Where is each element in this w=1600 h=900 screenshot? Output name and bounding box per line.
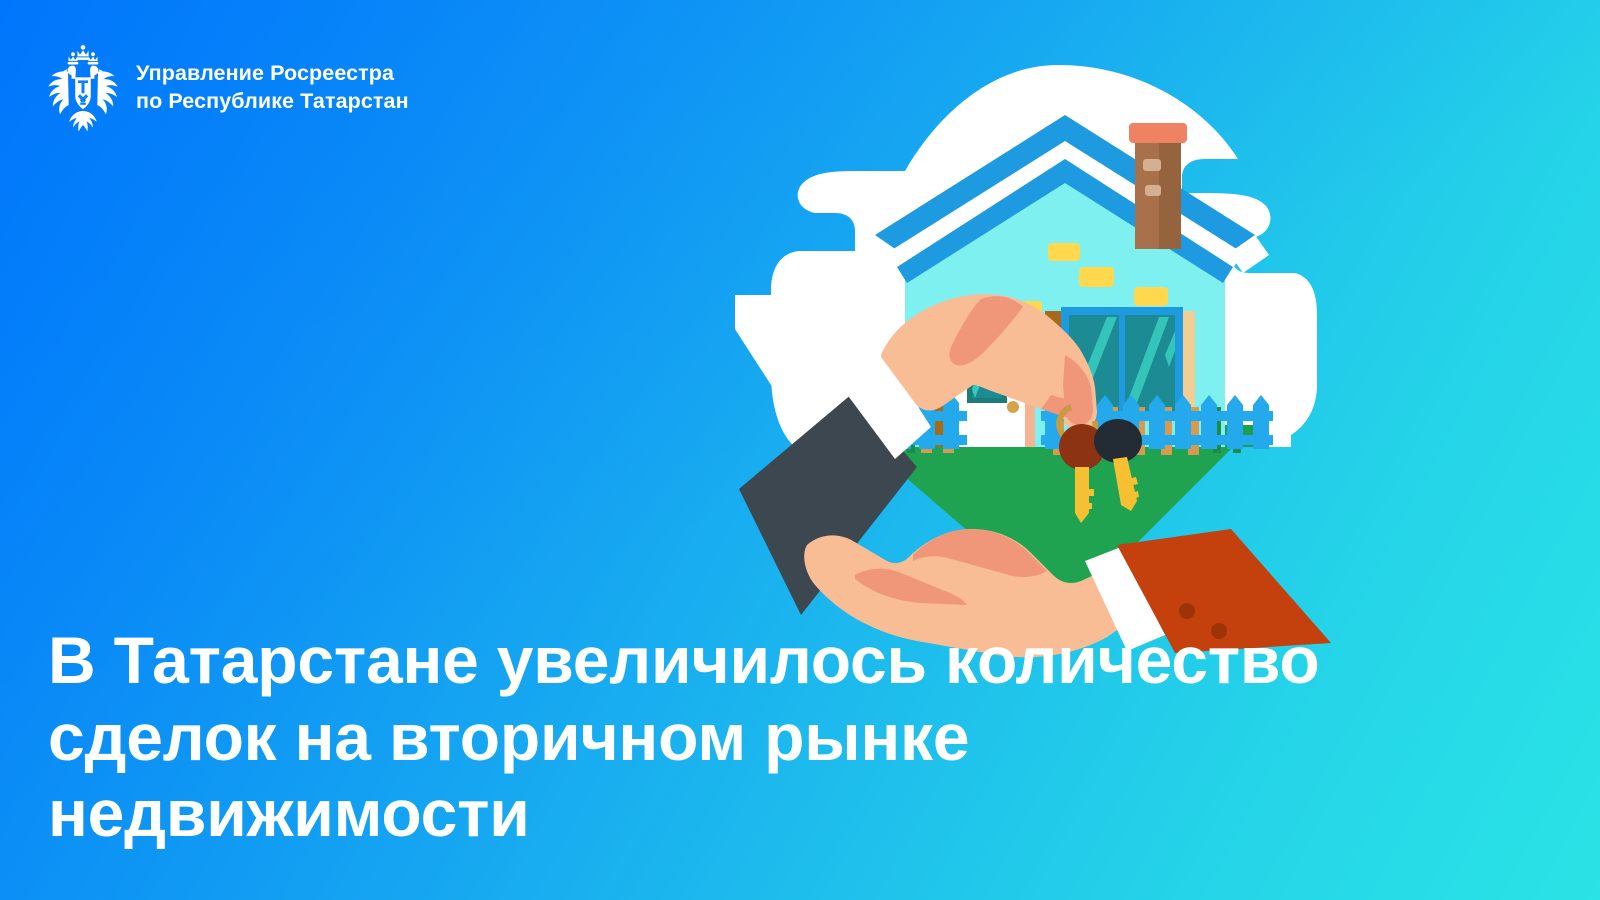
chimney (1129, 123, 1187, 249)
door-knob (1007, 401, 1019, 413)
poster-canvas: Управление Росреестра по Республике Тата… (0, 0, 1600, 900)
rosreestr-double-headed-eagle-emblem (44, 44, 122, 132)
rosreestr-logo-block: Управление Росреестра по Республике Тата… (44, 44, 409, 132)
key-fob-dark (1094, 419, 1142, 463)
sleeve-button-1 (1179, 603, 1195, 619)
handing-over-house-keys-illustration (735, 55, 1355, 675)
headline-text: В Татарстане увеличилось количество сдел… (48, 622, 1368, 852)
logo-organization-name: Управление Росреестра по Республике Тата… (136, 60, 409, 115)
